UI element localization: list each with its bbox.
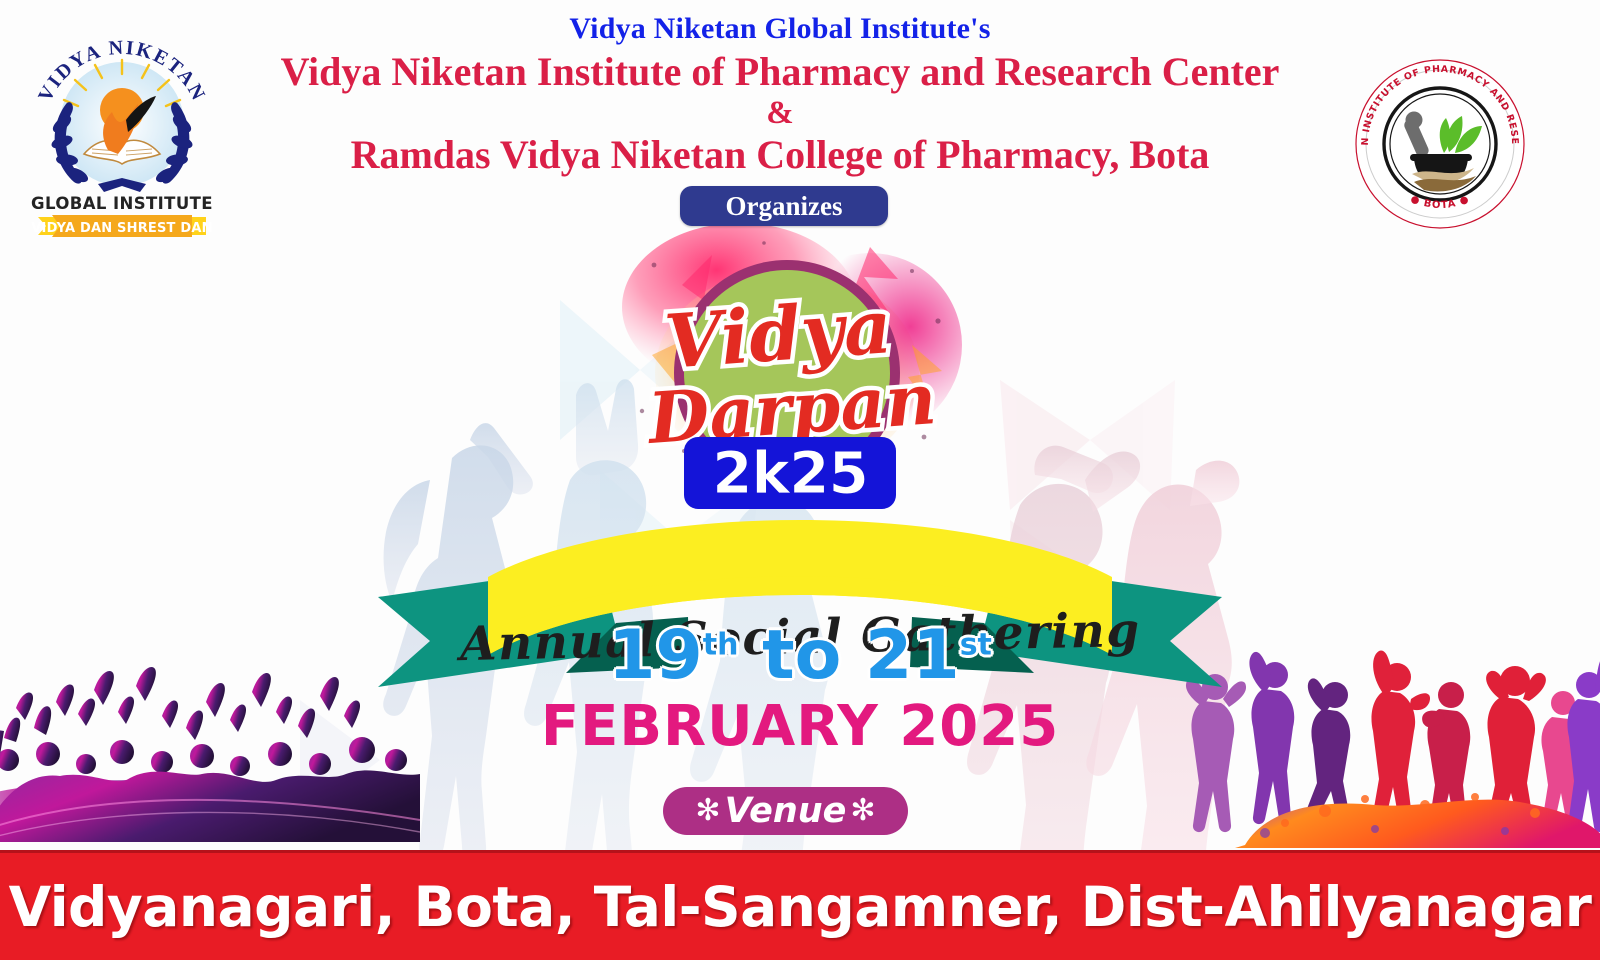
date-range: 19th to 21st xyxy=(0,622,1600,690)
logo-left-name-text: GLOBAL INSTITUTE xyxy=(31,194,213,213)
organizes-badge: Organizes xyxy=(680,186,888,226)
venue-label: Venue xyxy=(725,794,847,829)
college-name-primary: Vidya Niketan Institute of Pharmacy and … xyxy=(210,48,1350,95)
venue-address: Vidyanagari, Bota, Tal-Sangamner, Dist-A… xyxy=(9,875,1592,939)
month-year: FEBRUARY 2025 xyxy=(0,698,1600,757)
venue-asterisk-right-icon: ✻ xyxy=(850,796,875,826)
logo-left-ribbon-text: VIDYA DAN SHREST DAN xyxy=(31,221,212,236)
event-poster: VIDYA NIKETAN GLOBAL INSTITUTE VIDYA DAN… xyxy=(0,0,1600,960)
day-start-suffix: th xyxy=(703,627,739,662)
vnipr-bota-seal-logo: VIDYA NIKETAN INSTITUTE OF PHARMACY AND … xyxy=(1352,56,1528,232)
year-badge-2k25: 2k25 xyxy=(684,437,896,509)
year-badge-label: 2k25 xyxy=(712,444,868,502)
poster-header: Vidya Niketan Global Institute's Vidya N… xyxy=(210,10,1350,178)
institute-name: Vidya Niketan Global Institute's xyxy=(210,10,1350,48)
venue-asterisk-left-icon: ✻ xyxy=(695,796,720,826)
day-start: 19 xyxy=(608,616,703,695)
venue-address-bar: Vidyanagari, Bota, Tal-Sangamner, Dist-A… xyxy=(0,853,1600,960)
ampersand: & xyxy=(210,95,1350,131)
event-dates: 19th to 21st FEBRUARY 2025 xyxy=(0,622,1600,757)
college-name-secondary: Ramdas Vidya Niketan College of Pharmacy… xyxy=(210,131,1350,178)
venue-badge: ✻ Venue ✻ xyxy=(663,787,908,835)
date-connector: to xyxy=(762,616,841,695)
day-end-suffix: st xyxy=(960,627,992,662)
organizes-label: Organizes xyxy=(726,191,843,222)
day-end: 21 xyxy=(865,616,960,695)
vidya-niketan-global-institute-logo: VIDYA NIKETAN GLOBAL INSTITUTE VIDYA DAN… xyxy=(22,32,222,237)
